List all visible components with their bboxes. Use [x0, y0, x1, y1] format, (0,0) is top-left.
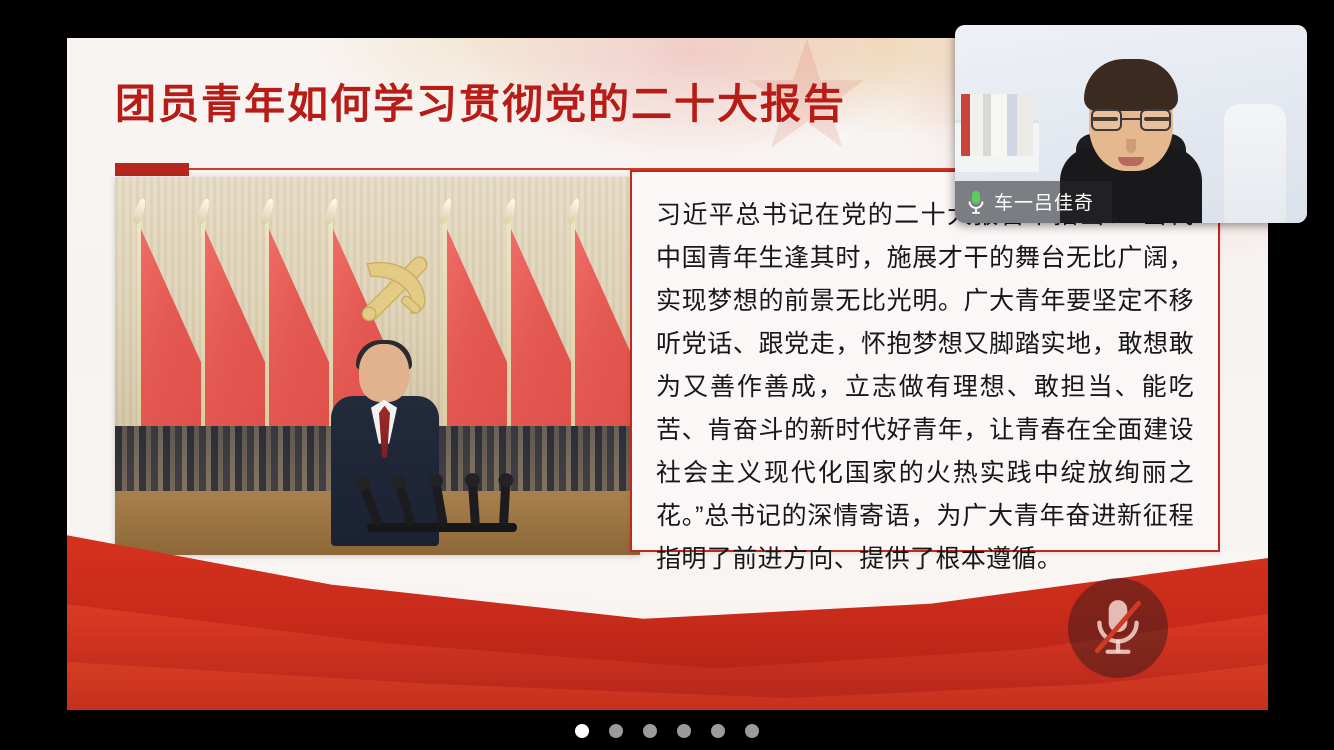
screen-share-stage: 团员青年如何学习贯彻党的二十大报告: [0, 0, 1334, 750]
pagination-dot-6[interactable]: [745, 724, 759, 738]
pagination-dot-4[interactable]: [677, 724, 691, 738]
party-emblem-icon: [346, 237, 446, 333]
page-title: 团员青年如何学习贯彻党的二十大报告: [115, 70, 846, 130]
flag-tip: [565, 197, 582, 225]
participant-video-tile[interactable]: 车一吕佳奇: [955, 25, 1307, 223]
pagination-dot-5[interactable]: [711, 724, 725, 738]
flag-tip: [195, 197, 212, 225]
flag-tip: [131, 197, 148, 225]
participant-name: 车一吕佳奇: [994, 188, 1094, 215]
glasses-icon: [1091, 109, 1171, 131]
pagination-dot-2[interactable]: [609, 724, 623, 738]
pagination-dot-1[interactable]: [575, 724, 589, 738]
flag-tip: [437, 197, 454, 225]
flag-tip: [501, 197, 518, 225]
microphone-on-icon: [967, 190, 985, 214]
flag-tip: [323, 197, 340, 225]
slide-pagination[interactable]: [0, 724, 1334, 738]
mute-microphone-button[interactable]: [1068, 578, 1168, 678]
video-books: [961, 94, 1033, 156]
quote-textbox: 习近平总书记在党的二十大报告中指出：“当代中国青年生逢其时，施展才干的舞台无比广…: [630, 170, 1220, 552]
congress-photo: [115, 177, 640, 555]
title-accent-tab: [115, 163, 189, 176]
video-chair-right: [1224, 104, 1286, 223]
participant-nameplate: 车一吕佳奇: [955, 181, 1112, 223]
pagination-dot-3[interactable]: [643, 724, 657, 738]
flag-tip: [259, 197, 276, 225]
microphone-muted-icon: [1089, 597, 1147, 659]
